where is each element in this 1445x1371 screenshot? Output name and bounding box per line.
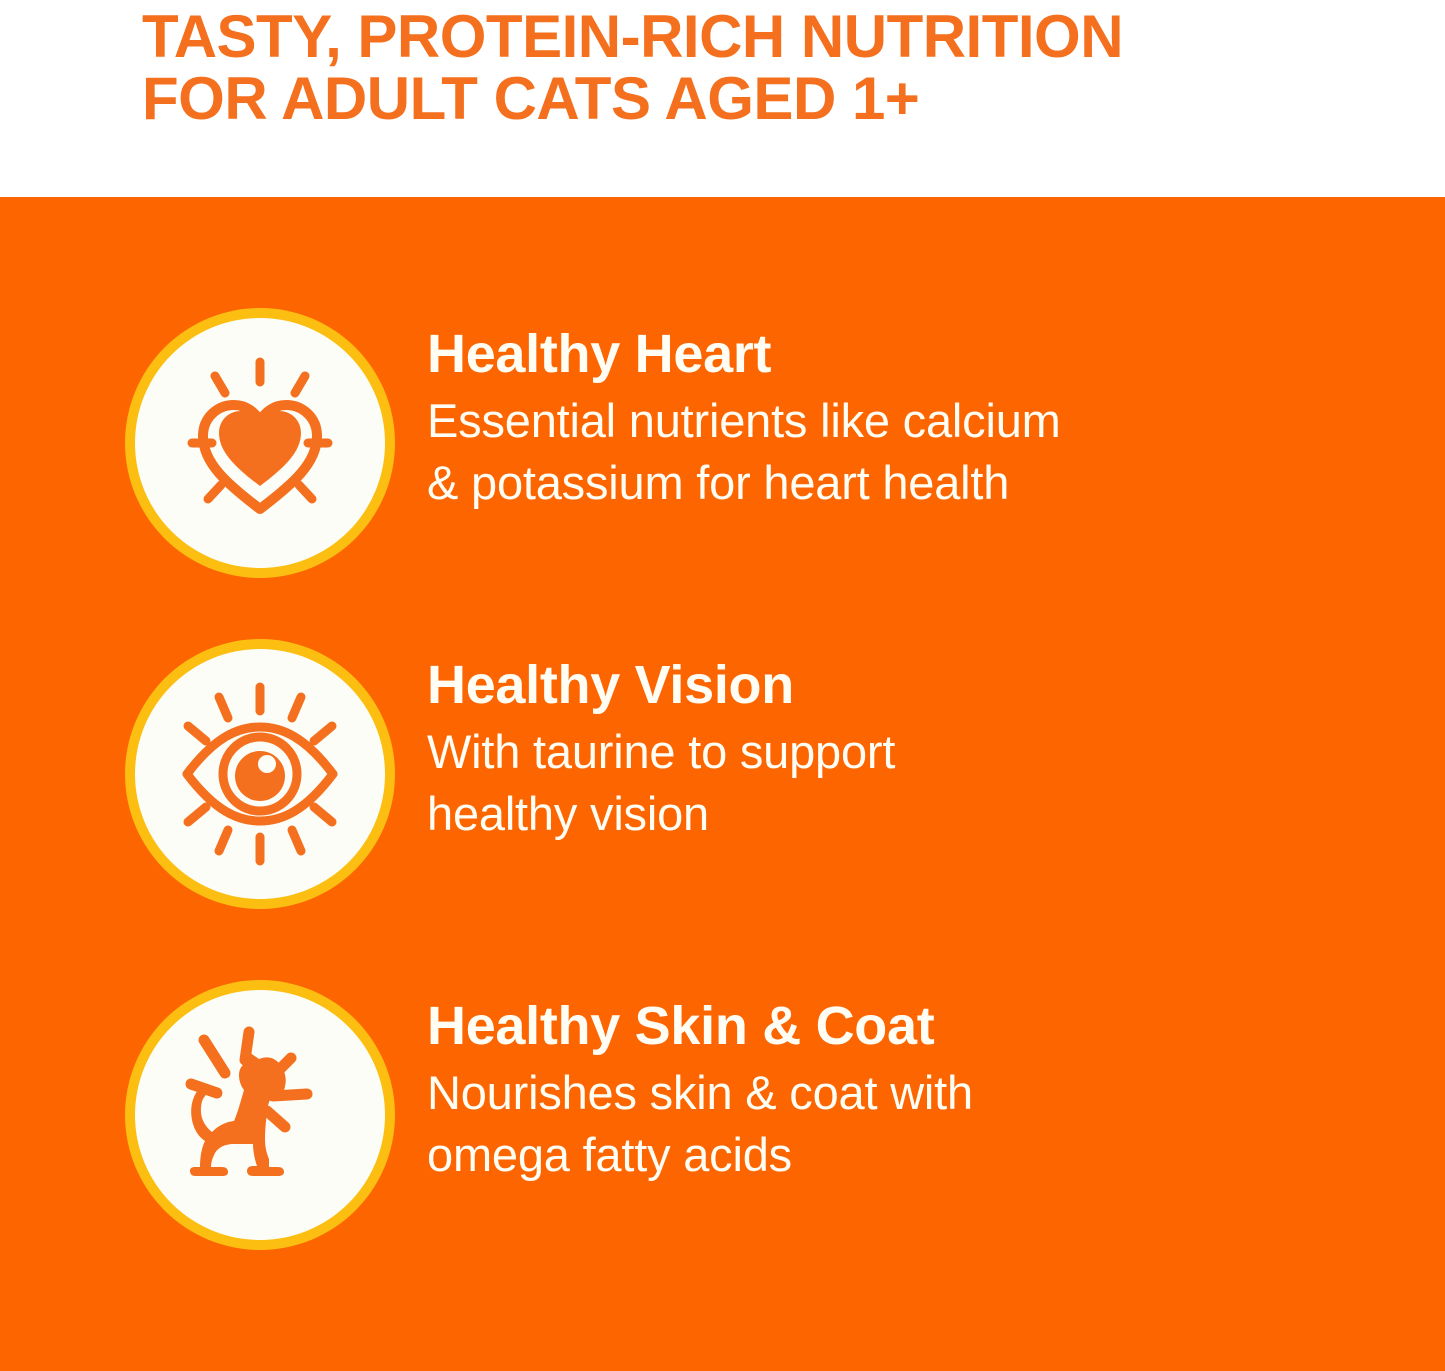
feature-heading: Healthy Skin & Coat xyxy=(427,996,1327,1056)
feature-item-healthy-heart: Healthy Heart Essential nutrients like c… xyxy=(0,318,1445,568)
feature-text-block: Healthy Skin & Coat Nourishes skin & coa… xyxy=(427,990,1327,1186)
feature-body: With taurine to support healthy vision xyxy=(427,721,1327,845)
radiant-eye-icon xyxy=(135,649,385,899)
radiant-heart-icon xyxy=(135,318,385,568)
page-title: TASTY, PROTEIN-RICH NUTRITION FOR ADULT … xyxy=(142,6,1362,130)
feature-item-healthy-skin-and-coat: Healthy Skin & Coat Nourishes skin & coa… xyxy=(0,990,1445,1240)
feature-text-block: Healthy Heart Essential nutrients like c… xyxy=(427,318,1327,514)
feature-item-healthy-vision: Healthy Vision With taurine to support h… xyxy=(0,649,1445,899)
feature-panel: Healthy Heart Essential nutrients like c… xyxy=(0,197,1445,1371)
feature-heading: Healthy Heart xyxy=(427,324,1327,384)
feature-heading: Healthy Vision xyxy=(427,655,1327,715)
feature-body: Essential nutrients like calcium & potas… xyxy=(427,390,1327,514)
radiant-cat-icon xyxy=(135,990,385,1240)
feature-text-block: Healthy Vision With taurine to support h… xyxy=(427,649,1327,845)
feature-body: Nourishes skin & coat with omega fatty a… xyxy=(427,1062,1327,1186)
header-banner: TASTY, PROTEIN-RICH NUTRITION FOR ADULT … xyxy=(0,0,1445,197)
